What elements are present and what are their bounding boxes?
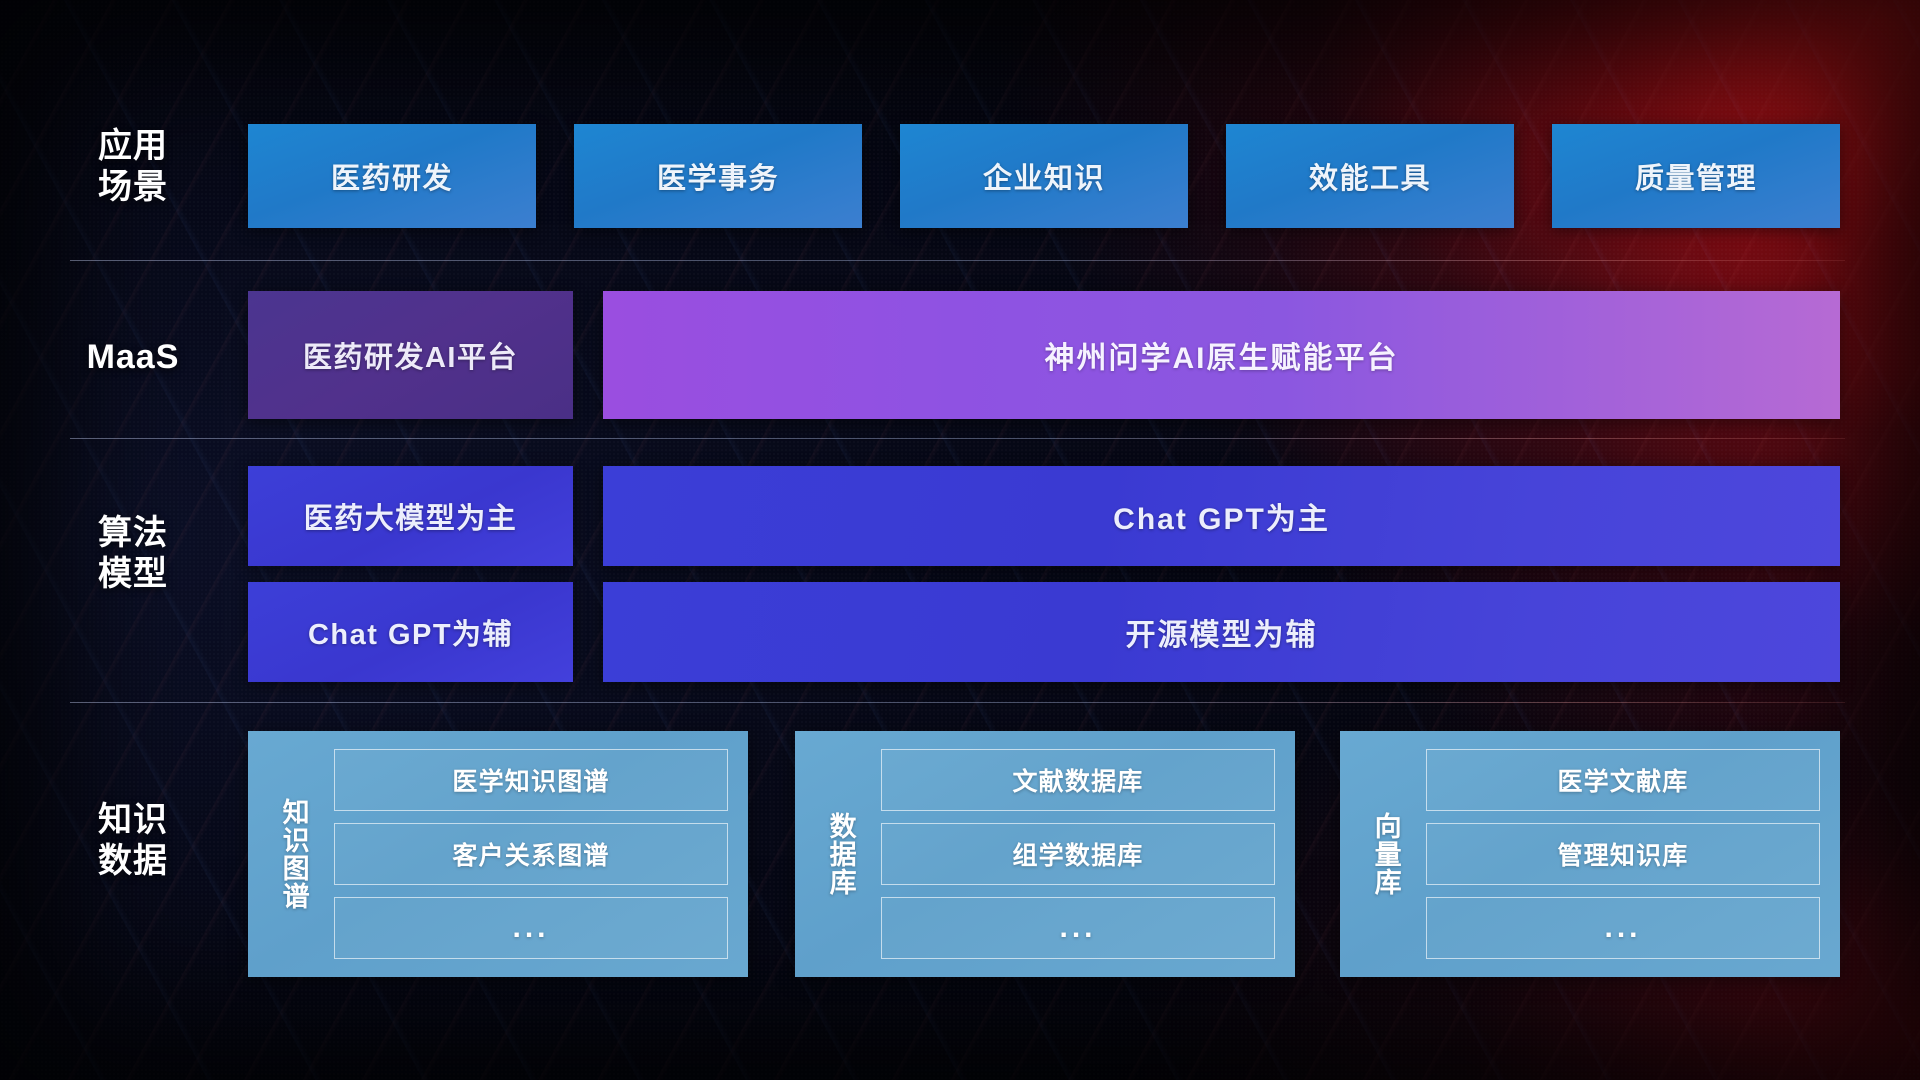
app-scenario-box-1[interactable]: 医药研发 (248, 124, 536, 228)
knowledge-panel-knowledge-graph-items: 医学知识图谱 客户关系图谱 ... (334, 745, 732, 963)
algorithm-box-right-2[interactable]: 开源模型为辅 (603, 582, 1840, 682)
maas-platform-shenzhou[interactable]: 神州问学AI原生赋能平台 (603, 291, 1840, 419)
knowledge-item[interactable]: 医学知识图谱 (334, 749, 728, 811)
divider-tier-2 (70, 438, 1845, 439)
app-scenario-box-2[interactable]: 医学事务 (574, 124, 862, 228)
tier-label-application-scenario: 应用 场景 (58, 126, 208, 209)
app-scenario-box-4-label: 效能工具 (1309, 155, 1431, 197)
knowledge-item-more[interactable]: ... (881, 897, 1275, 959)
knowledge-item[interactable]: 客户关系图谱 (334, 823, 728, 885)
maas-platform-medical[interactable]: 医药研发AI平台 (248, 291, 573, 419)
app-scenario-box-4[interactable]: 效能工具 (1226, 124, 1514, 228)
maas-platform-shenzhou-label: 神州问学AI原生赋能平台 (1045, 333, 1399, 377)
knowledge-panel-database[interactable]: 数据库 文献数据库 组学数据库 ... (795, 731, 1295, 977)
tier-label-knowledge-data: 知识 数据 (58, 800, 208, 883)
knowledge-panel-vector-store[interactable]: 向量库 医学文献库 管理知识库 ... (1340, 731, 1840, 977)
knowledge-panel-vector-store-title: 向量库 (1354, 812, 1416, 896)
tier-label-algorithm-model: 算法 模型 (58, 513, 208, 596)
knowledge-panel-database-title: 数据库 (809, 812, 871, 896)
knowledge-item[interactable]: 组学数据库 (881, 823, 1275, 885)
app-scenario-box-2-label: 医学事务 (657, 155, 779, 197)
knowledge-panel-knowledge-graph-title: 知识图谱 (262, 798, 324, 910)
knowledge-item[interactable]: 医学文献库 (1426, 749, 1820, 811)
divider-tier-3 (70, 702, 1845, 703)
diagram-content: 应用 场景 医药研发 医学事务 企业知识 效能工具 质量管理 MaaS 医药研发… (0, 0, 1920, 1080)
algorithm-box-right-1[interactable]: Chat GPT为主 (603, 466, 1840, 566)
knowledge-panel-database-items: 文献数据库 组学数据库 ... (881, 745, 1279, 963)
algorithm-box-left-1-label: 医药大模型为主 (304, 495, 518, 537)
knowledge-item[interactable]: 文献数据库 (881, 749, 1275, 811)
knowledge-panel-knowledge-graph[interactable]: 知识图谱 医学知识图谱 客户关系图谱 ... (248, 731, 748, 977)
app-scenario-box-3[interactable]: 企业知识 (900, 124, 1188, 228)
knowledge-item-more[interactable]: ... (1426, 897, 1820, 959)
algorithm-box-right-2-label: 开源模型为辅 (1126, 610, 1318, 654)
app-scenario-box-5[interactable]: 质量管理 (1552, 124, 1840, 228)
architecture-diagram: 应用 场景 医药研发 医学事务 企业知识 效能工具 质量管理 MaaS 医药研发… (0, 0, 1920, 1080)
knowledge-item[interactable]: 管理知识库 (1426, 823, 1820, 885)
algorithm-box-right-1-label: Chat GPT为主 (1113, 494, 1330, 538)
algorithm-box-left-1[interactable]: 医药大模型为主 (248, 466, 573, 566)
app-scenario-box-5-label: 质量管理 (1635, 155, 1757, 197)
algorithm-box-left-2[interactable]: Chat GPT为辅 (248, 582, 573, 682)
app-scenario-box-3-label: 企业知识 (983, 155, 1105, 197)
knowledge-panel-vector-store-items: 医学文献库 管理知识库 ... (1426, 745, 1824, 963)
maas-platform-medical-label: 医药研发AI平台 (303, 334, 518, 376)
knowledge-item-more[interactable]: ... (334, 897, 728, 959)
tier-label-maas: MaaS (58, 337, 208, 378)
app-scenario-box-1-label: 医药研发 (331, 155, 453, 197)
divider-tier-1 (70, 260, 1845, 261)
algorithm-box-left-2-label: Chat GPT为辅 (308, 611, 513, 653)
